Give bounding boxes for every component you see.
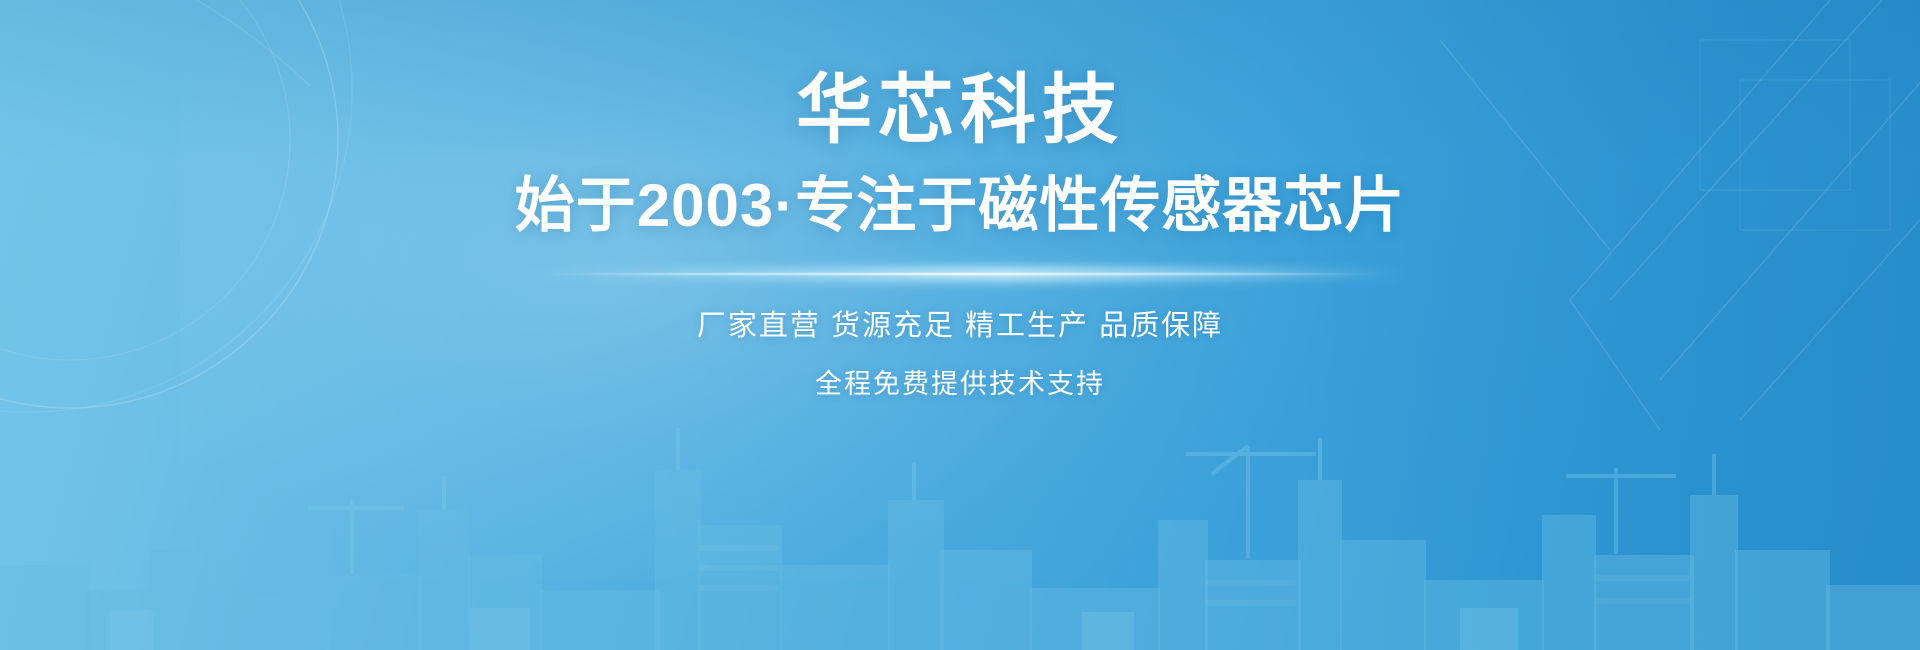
banner-content: 华芯科技 始于2003·专注于磁性传感器芯片 厂家直营 货源充足 精工生产 品质… (0, 0, 1920, 650)
glow-divider-halo (618, 259, 1302, 289)
tagline-secondary: 全程免费提供技术支持 (815, 368, 1105, 400)
hero-banner: 华芯科技 始于2003·专注于磁性传感器芯片 厂家直营 货源充足 精工生产 品质… (0, 0, 1920, 650)
arc-decoration (0, 0, 440, 460)
top-vignette-decoration (0, 0, 1920, 160)
glow-divider-core (546, 273, 1374, 275)
page-title: 华芯科技 (796, 72, 1124, 150)
center-glow-decoration (180, 0, 1330, 580)
line-decoration (1140, 0, 1920, 650)
banner-subtitle: 始于2003·专注于磁性传感器芯片 (515, 174, 1405, 237)
city-skyline-decoration (0, 350, 1920, 650)
tagline-primary: 厂家直营 货源充足 精工生产 品质保障 (697, 309, 1223, 344)
right-vignette-decoration (1300, 0, 1920, 650)
glow-divider (510, 263, 1410, 285)
glow-divider-spread (510, 269, 1410, 279)
